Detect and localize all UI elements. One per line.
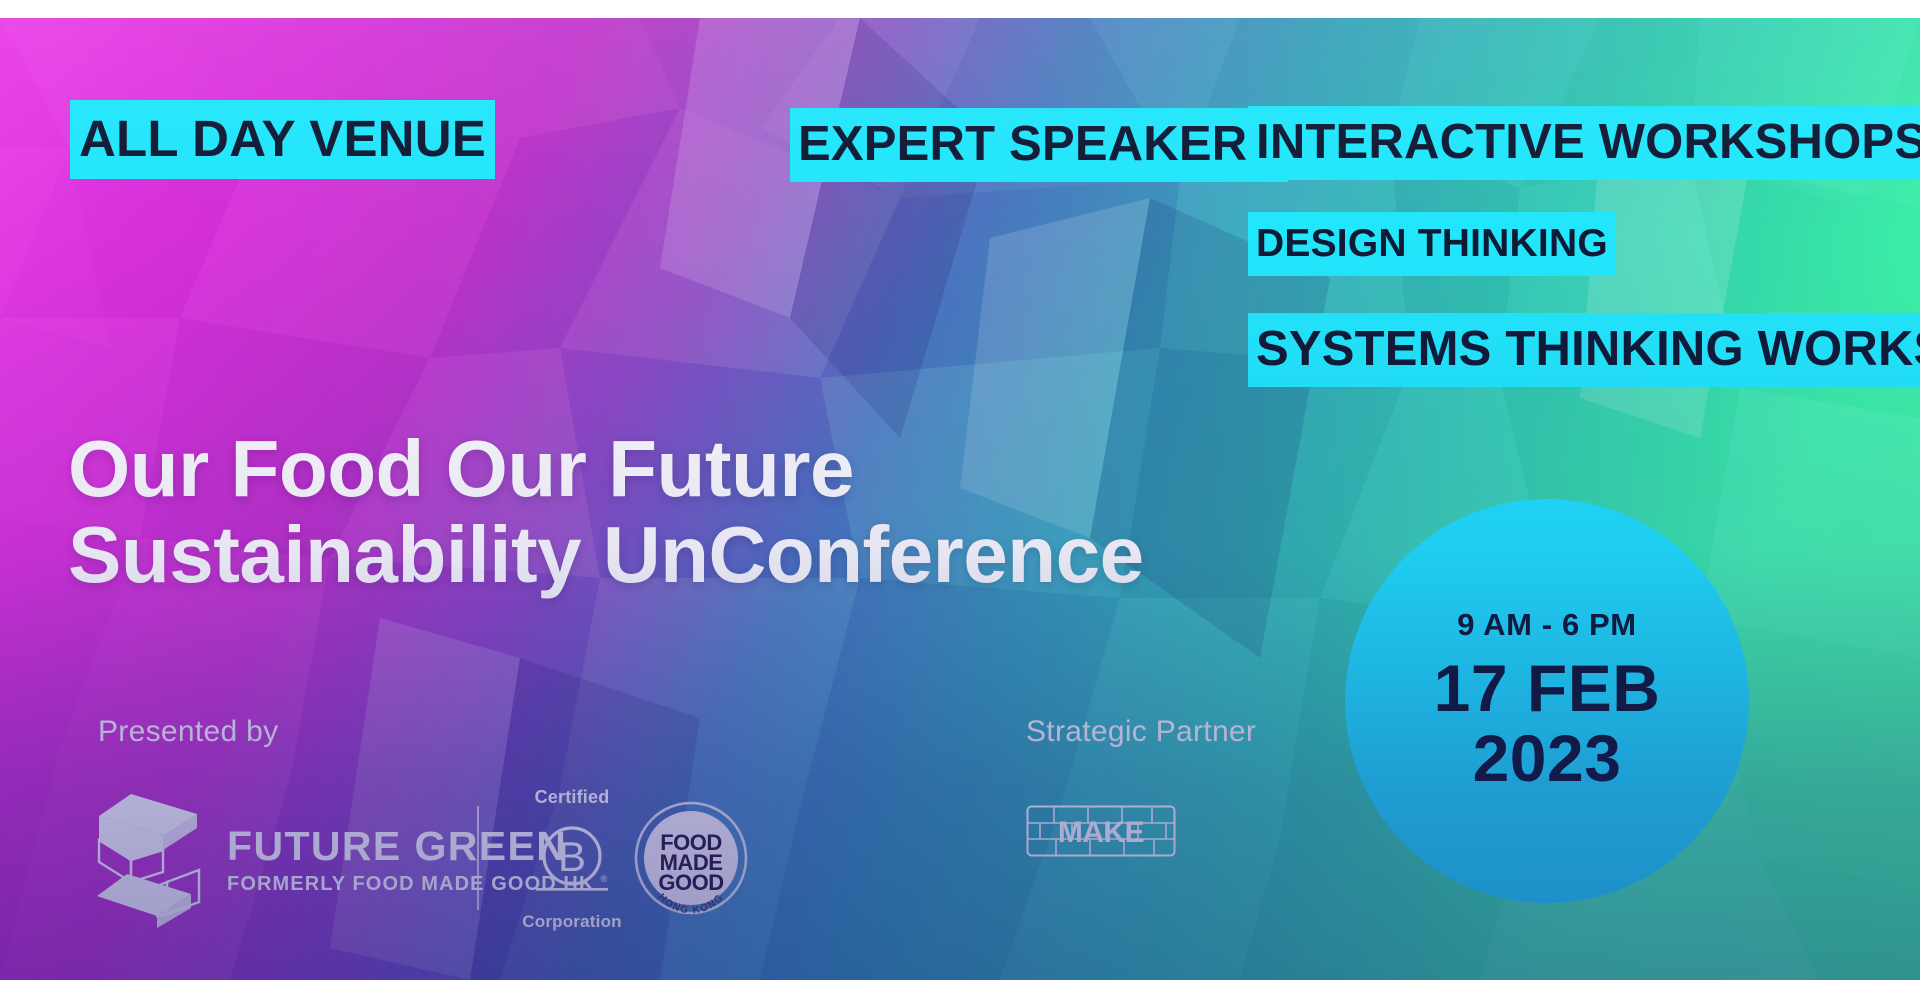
food-made-good-icon: FOOD MADE GOOD HONG KONG (631, 798, 751, 918)
fmg-line-3: GOOD (658, 870, 723, 895)
date-badge-year: 2023 (1473, 724, 1622, 794)
svg-text:®: ® (601, 874, 608, 884)
event-title-line-2: Sustainability UnConference (68, 512, 1144, 598)
svg-text:B: B (558, 833, 586, 880)
tag-interactive-workshops: INTERACTIVE WORKSHOPS (1248, 106, 1920, 180)
bcorp-certified-label: Certified (535, 788, 610, 806)
tag-expert-speakers: EXPERT SPEAKERS (790, 108, 1288, 182)
bcorp-b-icon: B ® (534, 822, 610, 898)
event-banner: ALL DAY VENUE EXPERT SPEAKERS INTERACTIV… (0, 0, 1920, 1004)
date-badge-time: 9 AM - 6 PM (1457, 609, 1636, 640)
food-made-good-logo: FOOD MADE GOOD HONG KONG (631, 798, 751, 918)
make-wordmark: MAKE (1058, 816, 1144, 849)
make-logo: MAKE (1026, 805, 1176, 857)
event-title: Our Food Our Future Sustainability UnCon… (68, 426, 1144, 597)
bcorp-logo: Certified B ® Corporation (512, 788, 632, 930)
date-badge: 9 AM - 6 PM 17 FEB 2023 (1345, 499, 1749, 903)
event-title-line-1: Our Food Our Future (68, 426, 1144, 512)
banner-artwork: ALL DAY VENUE EXPERT SPEAKERS INTERACTIV… (0, 18, 1920, 980)
tag-systems-thinking-workshop: SYSTEMS THINKING WORKSHOP (1248, 313, 1920, 387)
future-green-mark-icon (95, 790, 203, 930)
make-brick-icon: MAKE (1026, 805, 1176, 857)
strategic-partner-label: Strategic Partner (1026, 715, 1256, 749)
tag-design-thinking: DESIGN THINKING (1248, 212, 1616, 276)
tag-all-day-venue: ALL DAY VENUE (70, 100, 495, 179)
date-badge-day: 17 FEB (1434, 654, 1661, 724)
logo-divider (477, 806, 479, 910)
bcorp-corporation-label: Corporation (522, 913, 621, 930)
presented-by-label: Presented by (98, 715, 278, 749)
